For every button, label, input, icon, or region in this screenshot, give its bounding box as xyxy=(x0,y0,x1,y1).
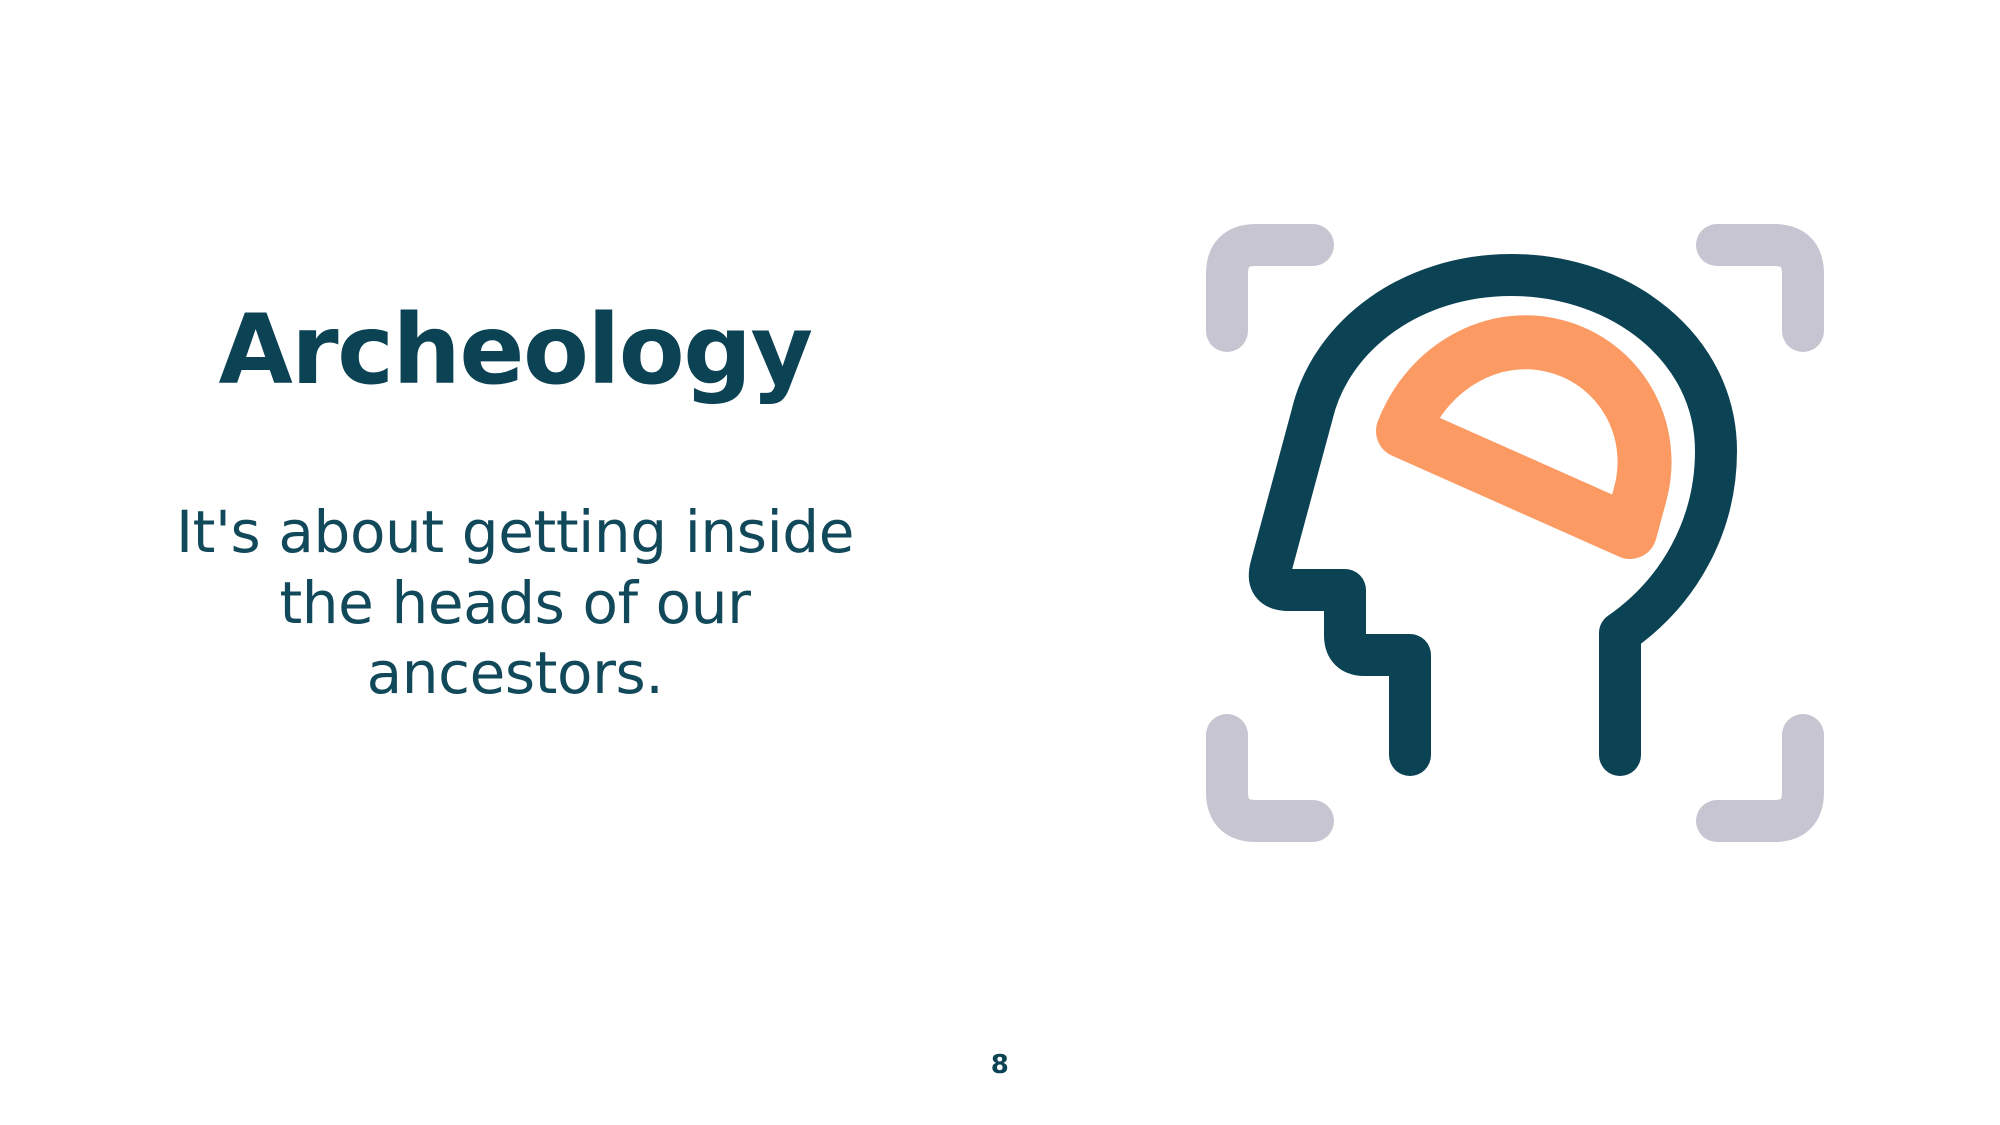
scan-bracket-bottom-right xyxy=(1717,735,1803,821)
slide-subtitle: It's about getting inside the heads of o… xyxy=(150,497,880,709)
head-scan-icon-svg xyxy=(1200,218,1830,848)
brain-dome-shape xyxy=(1403,342,1645,532)
slide-canvas: Archeology It's about getting inside the… xyxy=(0,0,2000,1125)
page-number: 8 xyxy=(0,1050,2000,1080)
page-title: Archeology xyxy=(110,300,920,401)
head-scan-icon xyxy=(1200,218,1830,848)
scan-bracket-bottom-left xyxy=(1227,735,1313,821)
scan-bracket-top-right xyxy=(1717,245,1803,331)
text-column: Archeology It's about getting inside the… xyxy=(110,300,920,709)
scan-bracket-top-left xyxy=(1227,245,1313,331)
